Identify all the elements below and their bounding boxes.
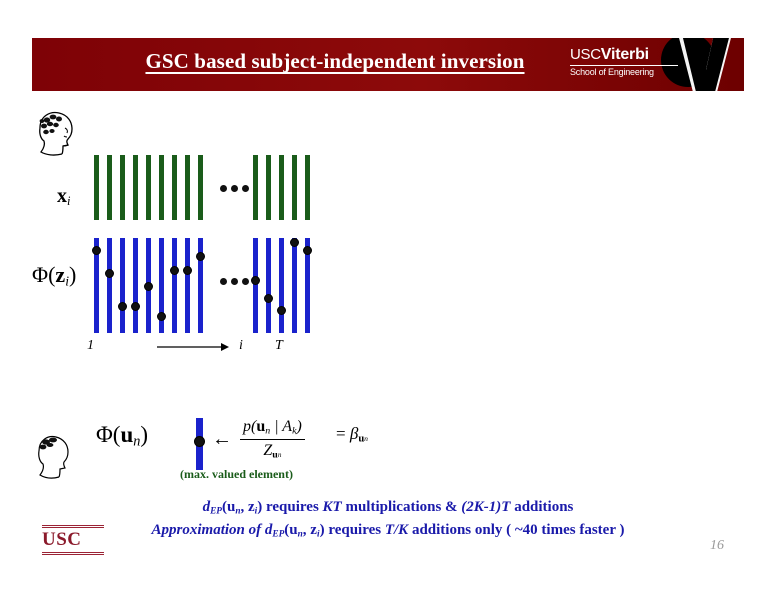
max-element-marker: [170, 266, 179, 275]
max-element-marker: [251, 276, 260, 285]
equation-numerator: p(un | Ak): [240, 418, 305, 437]
max-element-marker: [157, 312, 166, 321]
signal-diagram: xi Φ(zi) 1 i T: [32, 150, 302, 355]
feature-bar-blue: [185, 238, 190, 333]
page-title: GSC based subject-independent inversion: [102, 49, 568, 74]
max-element-marker: [131, 302, 140, 311]
feature-bar-blue: [279, 238, 284, 333]
usc-logo-rule-top: [42, 525, 104, 526]
feature-bar-green: [253, 155, 258, 220]
viterbi-usc-text: USC: [570, 46, 601, 63]
feature-bar-green: [292, 155, 297, 220]
axis-label-start: 1: [87, 338, 94, 354]
equation-note: (max. valued element): [180, 467, 293, 482]
feature-bar-green: [146, 155, 151, 220]
max-element-marker: [105, 269, 114, 278]
usc-logo-rule-bottom-2: [42, 554, 104, 555]
usc-viterbi-logo: USCViterbi School of Engineering: [562, 38, 734, 91]
person-head-profile-icon-2: [30, 432, 76, 480]
equation-denominator: Zun: [240, 442, 305, 461]
max-element-marker: [277, 306, 286, 315]
row-label-x-i: xi: [57, 185, 70, 209]
feature-bar-blue: [172, 238, 177, 333]
statement-line-1: dEP(un, zi) requires KT multiplications …: [0, 496, 776, 519]
feature-bars-green: [94, 155, 294, 220]
max-element-marker: [196, 252, 205, 261]
row-label-phi-z-i: Φ(zi): [32, 262, 76, 289]
feature-bars-blue: [94, 238, 294, 333]
axis-label-middle: i: [239, 338, 243, 354]
time-axis: 1 i T: [87, 336, 302, 358]
max-element-marker: [303, 246, 312, 255]
usc-footer-text: USC: [42, 530, 104, 550]
equation-lhs: Φ(un): [96, 422, 148, 451]
viterbi-name-text: Viterbi: [601, 46, 649, 63]
ellipsis-green: [220, 185, 249, 192]
equation-block: Φ(un) ← p(un | Ak) Zun = βun (max. value…: [88, 410, 388, 490]
header-banner: GSC based subject-independent inversion …: [32, 38, 744, 91]
equation-rhs: = βun: [336, 424, 368, 445]
feature-bar-green: [279, 155, 284, 220]
feature-bar-blue: [120, 238, 125, 333]
viterbi-wordmark: USCViterbi School of Engineering: [570, 47, 678, 77]
equation-arrow: ←: [212, 428, 232, 451]
page-number: 16: [710, 538, 724, 554]
feature-bar-blue: [133, 238, 138, 333]
bottom-statements: dEP(un, zi) requires KT multiplications …: [0, 496, 776, 543]
max-element-marker: [290, 238, 299, 247]
equation-fraction: p(un | Ak) Zun: [240, 418, 305, 461]
axis-arrow-icon: [157, 341, 229, 353]
axis-label-end: T: [275, 338, 283, 354]
max-element-marker: [118, 302, 127, 311]
viterbi-divider: [570, 65, 678, 66]
ellipsis-blue: [220, 278, 249, 285]
feature-bar-green: [198, 155, 203, 220]
feature-bar-green: [107, 155, 112, 220]
feature-bar-blue: [266, 238, 271, 333]
feature-bar-green: [120, 155, 125, 220]
usc-logo-rule-bottom: [42, 552, 104, 553]
feature-bar-green: [159, 155, 164, 220]
feature-bar-blue: [107, 238, 112, 333]
feature-bar-blue: [292, 238, 297, 333]
feature-bar-green: [185, 155, 190, 220]
feature-bar-green: [266, 155, 271, 220]
equation-fraction-rule: [240, 439, 305, 440]
usc-logo-rule-top-2: [42, 527, 104, 528]
statement-line-2: Approximation of dEP(un, zi) requires T/…: [0, 519, 776, 542]
max-element-marker: [183, 266, 192, 275]
equation-max-marker: [194, 436, 205, 447]
viterbi-school-text: School of Engineering: [570, 68, 678, 77]
feature-bar-green: [133, 155, 138, 220]
feature-bar-green: [94, 155, 99, 220]
feature-bar-green: [305, 155, 310, 220]
max-element-marker: [264, 294, 273, 303]
max-element-marker: [144, 282, 153, 291]
feature-bar-green: [172, 155, 177, 220]
usc-footer-logo: USC: [42, 524, 104, 556]
max-element-marker: [92, 246, 101, 255]
feature-bar-blue: [253, 238, 258, 333]
